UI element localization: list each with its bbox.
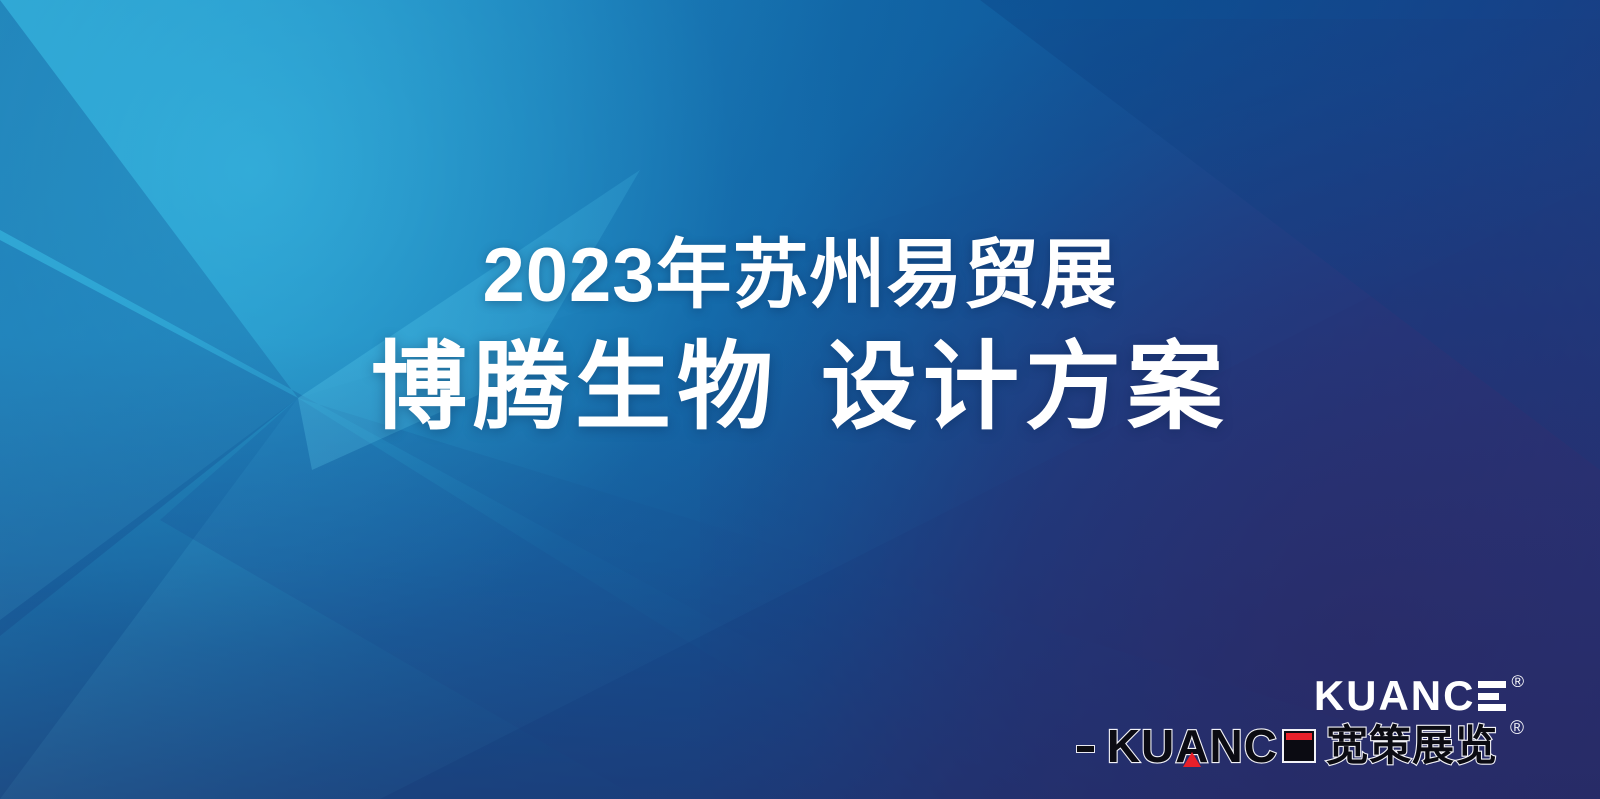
logo-kuance-white-wordmark: KUANC: [1314, 675, 1507, 717]
logo-letter-k: K: [1107, 723, 1141, 769]
logo-kuance-white: KUANC ®: [1314, 675, 1524, 717]
logo-kuance-black-wordmark: K U A N C: [1107, 723, 1316, 769]
logo-dash-icon: [1076, 745, 1095, 753]
logo-chinese-brand-name: 宽策展览: [1326, 725, 1498, 767]
logo-kuance-kuance-exhibition: K U A N C 宽策展览 ®: [1076, 723, 1524, 769]
logo-letter-c: C: [1244, 723, 1278, 769]
brand-logo-lockup: KUANC ® K U A N C: [1076, 675, 1524, 769]
logo-e-bars-red-icon: [1282, 729, 1316, 763]
logo-letter-a-wrap: A: [1175, 723, 1209, 769]
registered-trademark-secondary-icon: ®: [1510, 719, 1524, 738]
logo-letter-n: N: [1210, 723, 1244, 769]
registered-trademark-icon: ®: [1511, 673, 1524, 690]
logo-e-bars-icon: [1478, 681, 1506, 711]
logo-kuance-white-letters: KUANC: [1314, 675, 1476, 717]
logo-letter-u: U: [1141, 723, 1175, 769]
red-triangle-icon: [1183, 752, 1201, 767]
poster-canvas: 2023年苏州易贸展 博腾生物设计方案 KUANC ® K U A: [0, 0, 1600, 799]
